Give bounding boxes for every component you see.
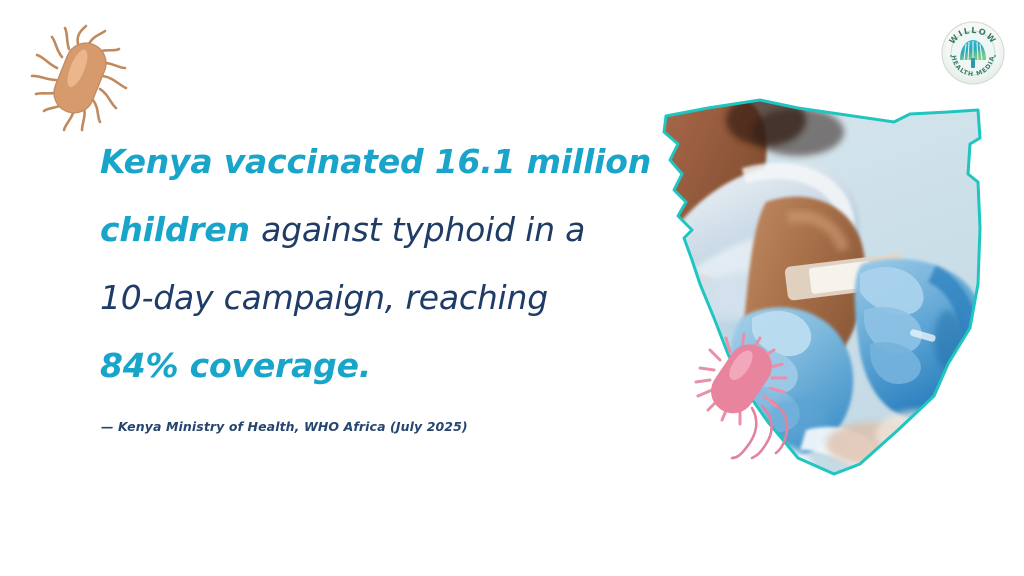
headline-block: Kenya vaccinated 16.1 million children a… bbox=[100, 128, 630, 400]
headline-segment: against typhoid in a bbox=[261, 210, 585, 249]
headline-segment: 84% coverage. bbox=[100, 346, 371, 385]
headline-line-2: children against typhoid in a bbox=[100, 196, 630, 264]
bacterium-pink-icon bbox=[690, 330, 825, 460]
attribution-source: — Kenya Ministry of Health, WHO Africa (… bbox=[101, 419, 468, 434]
headline-line-3: 10-day campaign, reaching bbox=[100, 264, 630, 332]
headline-line-4: 84% coverage. bbox=[100, 332, 630, 400]
headline-segment: children bbox=[100, 210, 261, 249]
headline-segment: 10-day campaign, reaching bbox=[100, 278, 548, 317]
bacterium-orange-icon bbox=[22, 22, 142, 140]
headline-line-1: Kenya vaccinated 16.1 million bbox=[100, 128, 630, 196]
willow-health-media-logo[interactable]: WILLOW HEALTH MEDIA bbox=[940, 20, 1006, 86]
headline-segment: Kenya vaccinated 16.1 million bbox=[100, 142, 651, 181]
infographic-card: Kenya vaccinated 16.1 million children a… bbox=[0, 0, 1024, 576]
